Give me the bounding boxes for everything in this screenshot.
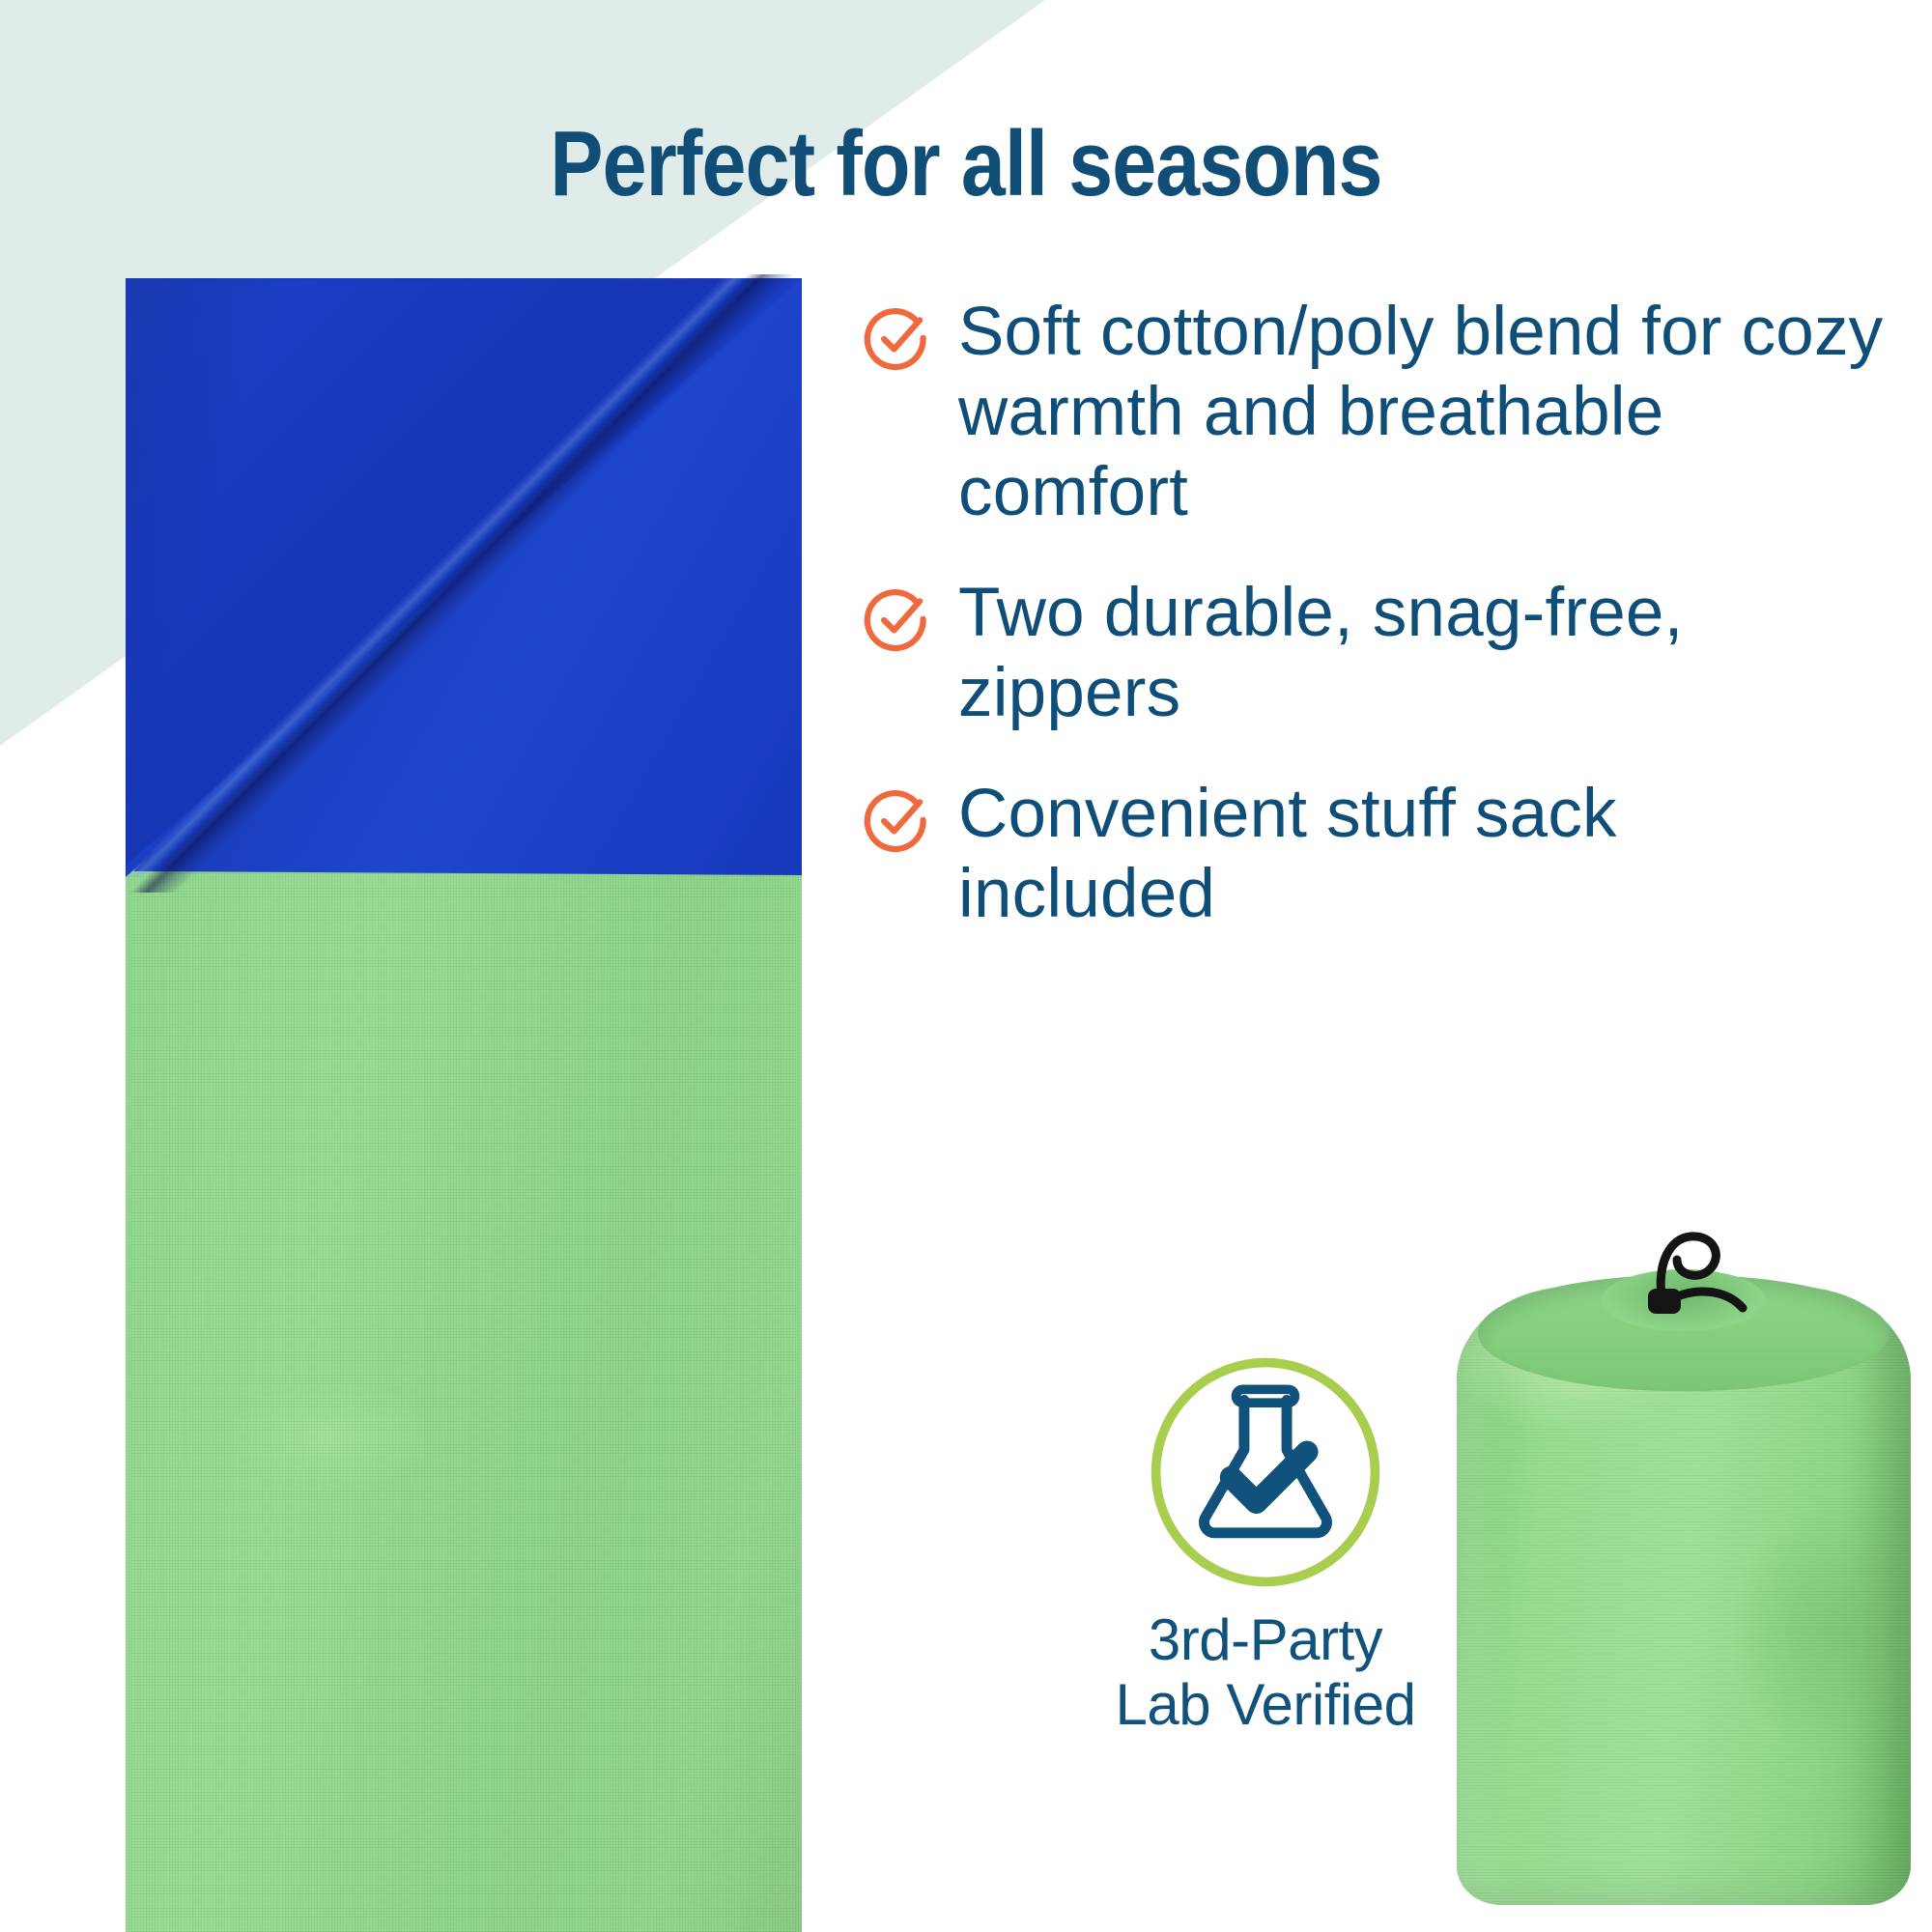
stuff-sack-image	[1457, 1229, 1911, 1905]
list-item: Convenient stuff sack included	[862, 774, 1886, 934]
lab-verified-badge: 3rd-Party Lab Verified	[1092, 1350, 1439, 1737]
badge-label: 3rd-Party Lab Verified	[1092, 1607, 1439, 1737]
check-circle-icon	[862, 785, 933, 857]
badge-label-line2: Lab Verified	[1092, 1672, 1439, 1737]
feature-text: Two durable, snag-free, zippers	[958, 573, 1886, 733]
drawstring-icon	[1602, 1225, 1804, 1370]
check-circle-icon	[862, 584, 933, 656]
sleeping-bag-image	[126, 278, 802, 1932]
list-item: Two durable, snag-free, zippers	[862, 573, 1886, 733]
page-title: Perfect for all seasons	[135, 116, 1797, 213]
bag-flap-crease	[116, 274, 831, 893]
badge-label-line1: 3rd-Party	[1092, 1607, 1439, 1672]
lab-flask-check-icon	[1144, 1350, 1387, 1594]
feature-list: Soft cotton/poly blend for cozy warmth a…	[862, 292, 1886, 975]
list-item: Soft cotton/poly blend for cozy warmth a…	[862, 292, 1886, 532]
feature-text: Soft cotton/poly blend for cozy warmth a…	[958, 292, 1886, 532]
check-circle-icon	[862, 303, 933, 375]
feature-text: Convenient stuff sack included	[958, 774, 1886, 934]
